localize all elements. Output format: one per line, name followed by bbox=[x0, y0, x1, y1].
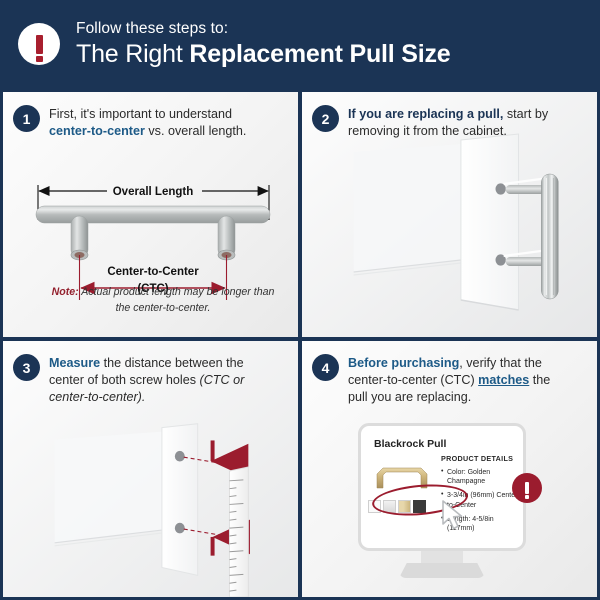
step-2-header: 2 If you are replacing a pull, start by … bbox=[302, 92, 597, 140]
note-text: Actual product length may be longer than… bbox=[79, 286, 275, 314]
step-4-link-matches[interactable]: matches bbox=[478, 373, 529, 387]
page-title-bold: Replacement Pull Size bbox=[189, 40, 450, 68]
step-panel-4: 4 Before purchasing, verify that the cen… bbox=[302, 341, 597, 597]
step-2-text: If you are replacing a pull, start by re… bbox=[348, 105, 563, 140]
step-number-1: 1 bbox=[13, 105, 40, 132]
step-panel-3: 3 Measure the distance between the cente… bbox=[3, 341, 298, 597]
screw-hole-top bbox=[495, 183, 505, 194]
step-number-4: 4 bbox=[312, 354, 339, 381]
monitor-stand-neck bbox=[421, 551, 463, 565]
screw-hole-bottom bbox=[175, 523, 185, 534]
overall-length-label: Overall Length bbox=[113, 186, 194, 198]
product-details-heading: PRODUCT DETAILS bbox=[441, 454, 523, 463]
step-1-text-part1: First, it's important to understand bbox=[49, 107, 232, 121]
note-label: Note: bbox=[52, 286, 79, 298]
product-page-monitor: Blackrock Pull bbox=[302, 423, 597, 597]
monitor-stand-base bbox=[399, 563, 485, 578]
step-3-header: 3 Measure the distance between the cente… bbox=[3, 341, 298, 406]
product-title: Blackrock Pull bbox=[374, 438, 446, 450]
step-1-text: First, it's important to understand cent… bbox=[49, 105, 264, 140]
header-text-block: Follow these steps to: The Right Replace… bbox=[76, 21, 451, 66]
step-number-3: 3 bbox=[13, 354, 40, 381]
alert-exclamation-icon bbox=[18, 23, 60, 65]
step-1-note: Note: Actual product length may be longe… bbox=[47, 284, 279, 317]
screw-hole-top bbox=[175, 451, 185, 462]
steps-grid: 1 First, it's important to understand ce… bbox=[0, 88, 600, 600]
step-4-text-accent: Before purchasing bbox=[348, 356, 459, 370]
pull-bar bbox=[36, 206, 270, 223]
exclamation-glyph bbox=[36, 35, 43, 54]
bar-pull-handle bbox=[541, 174, 558, 299]
product-detail-color: Color: Golden Champagne bbox=[441, 468, 523, 486]
page-title-light: The Right bbox=[76, 40, 189, 68]
step-1-header: 1 First, it's important to understand ce… bbox=[3, 92, 298, 140]
step-1-text-part2: vs. overall length. bbox=[145, 124, 247, 138]
alert-exclamation-icon-panel4 bbox=[512, 473, 542, 503]
header-banner: Follow these steps to: The Right Replace… bbox=[0, 0, 600, 88]
exclamation-glyph bbox=[525, 482, 530, 494]
header-kicker: Follow these steps to: bbox=[76, 21, 451, 37]
page-title: The Right Replacement Pull Size bbox=[76, 41, 451, 67]
step-panel-1: 1 First, it's important to understand ce… bbox=[3, 92, 298, 337]
step-1-text-accent: center-to-center bbox=[49, 124, 145, 138]
step-4-header: 4 Before purchasing, verify that the cen… bbox=[302, 341, 597, 406]
ctc-label-line1: Center-to-Center bbox=[107, 266, 199, 278]
step-3-text: Measure the distance between the center … bbox=[49, 354, 264, 406]
step-panel-2: 2 If you are replacing a pull, start by … bbox=[302, 92, 597, 337]
ruler bbox=[229, 467, 248, 597]
infographic-root: Follow these steps to: The Right Replace… bbox=[0, 0, 600, 600]
step-3-text-accent: Measure bbox=[49, 356, 100, 370]
step-number-2: 2 bbox=[312, 105, 339, 132]
step-2-text-accent: If you are replacing a pull, bbox=[348, 107, 503, 121]
step-4-text: Before purchasing, verify that the cente… bbox=[348, 354, 563, 406]
mouse-pointer-icon bbox=[440, 499, 466, 531]
